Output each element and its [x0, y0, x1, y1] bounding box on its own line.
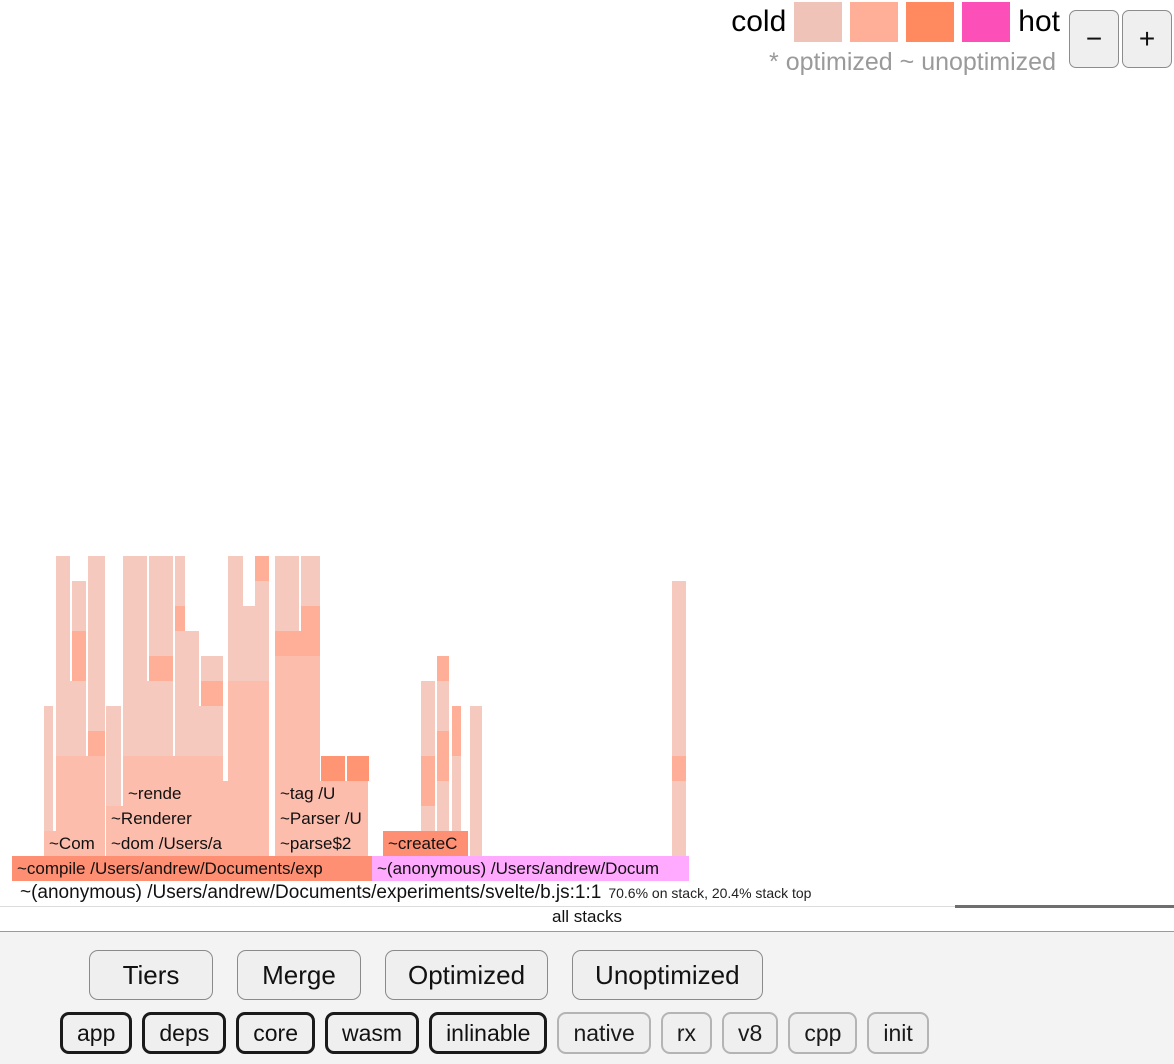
flame-frame[interactable]: [56, 581, 70, 606]
flame-frame[interactable]: [452, 731, 461, 756]
flame-frame[interactable]: [149, 656, 173, 681]
flame-frame[interactable]: [201, 656, 223, 681]
flame-frame[interactable]: [301, 606, 320, 631]
mode-button-row: TiersMergeOptimizedUnoptimized: [89, 950, 763, 1000]
flame-frame[interactable]: [255, 581, 269, 606]
flame-frame[interactable]: [72, 581, 86, 606]
flame-frame[interactable]: [88, 556, 105, 581]
zoom-in-button[interactable]: +: [1122, 10, 1172, 68]
flame-frame[interactable]: [470, 781, 482, 806]
legend-swatch-0: [794, 2, 842, 42]
flame-frame[interactable]: [421, 706, 435, 731]
flame-frame[interactable]: [275, 756, 320, 781]
flame-frame[interactable]: [437, 781, 449, 806]
zoom-controls: − +: [1069, 10, 1172, 68]
flame-frame[interactable]: [228, 656, 269, 681]
flame-frame[interactable]: [175, 606, 185, 631]
flame-frame[interactable]: [275, 631, 320, 656]
tag-button-init[interactable]: init: [867, 1012, 928, 1054]
flame-frame[interactable]: [672, 606, 686, 631]
flame-frame[interactable]: [88, 706, 105, 731]
tag-button-inlinable[interactable]: inlinable: [429, 1012, 547, 1054]
flame-frame[interactable]: [672, 756, 686, 781]
flame-frame[interactable]: [149, 556, 173, 581]
flame-frame[interactable]: [56, 781, 105, 806]
flamegraph-canvas[interactable]: ~compile /Users/andrew/Documents/exp~(an…: [0, 82, 1174, 882]
flame-frame-labeled[interactable]: ~dom /Users/a: [106, 831, 269, 856]
zoom-out-button[interactable]: −: [1069, 10, 1119, 68]
flame-frame[interactable]: [123, 606, 147, 631]
flame-frame[interactable]: [175, 681, 199, 706]
flame-frame[interactable]: [123, 581, 147, 606]
tag-button-v8[interactable]: v8: [722, 1012, 778, 1054]
flame-frame[interactable]: [44, 756, 53, 781]
legend-optimization-note: * optimized ~ unoptimized: [769, 48, 1056, 77]
tag-button-native[interactable]: native: [557, 1012, 650, 1054]
flame-frame[interactable]: [106, 756, 121, 781]
flame-frame[interactable]: [452, 806, 461, 831]
flame-frame[interactable]: [672, 831, 686, 856]
flame-frame[interactable]: [123, 706, 173, 731]
flame-frame[interactable]: [470, 731, 482, 756]
flame-frame[interactable]: [228, 606, 269, 631]
flame-frame[interactable]: [149, 631, 173, 656]
flame-frame[interactable]: [275, 556, 299, 581]
flame-frame[interactable]: [421, 806, 435, 831]
flame-frame[interactable]: [56, 806, 105, 831]
control-panel: TiersMergeOptimizedUnoptimized appdepsco…: [0, 931, 1174, 1064]
flame-frame[interactable]: [56, 731, 86, 756]
flame-frame[interactable]: [123, 631, 147, 656]
flame-frame[interactable]: [301, 556, 320, 581]
flame-frame[interactable]: [72, 656, 86, 681]
flame-frame-labeled[interactable]: ~(anonymous) /Users/andrew/Docum: [372, 856, 689, 881]
flame-frame[interactable]: [672, 781, 686, 806]
flame-frame[interactable]: [672, 656, 686, 681]
mode-button-tiers[interactable]: Tiers: [89, 950, 213, 1000]
flame-frame[interactable]: [56, 756, 105, 781]
flame-frame[interactable]: [123, 756, 223, 781]
flame-frame[interactable]: [88, 681, 105, 706]
flame-frame[interactable]: [275, 656, 320, 681]
flame-frame-labeled[interactable]: ~createC: [383, 831, 468, 856]
flame-frame[interactable]: [301, 581, 320, 606]
flame-frame-labeled[interactable]: ~Parser /U: [275, 806, 368, 831]
flame-frame[interactable]: [56, 556, 70, 581]
all-stacks-label: all stacks: [0, 907, 1174, 927]
flame-frame[interactable]: [56, 631, 70, 656]
flame-frame[interactable]: [275, 606, 299, 631]
flame-frame-labeled[interactable]: ~Renderer: [106, 806, 269, 831]
flame-frame[interactable]: [437, 756, 449, 781]
flame-frame[interactable]: [421, 731, 435, 756]
flame-frame-labeled[interactable]: ~rende: [123, 781, 269, 806]
flame-frame[interactable]: [228, 756, 269, 781]
flame-frame[interactable]: [228, 556, 243, 581]
flame-frame[interactable]: [228, 581, 243, 606]
flame-frame[interactable]: [56, 681, 86, 706]
flame-frame[interactable]: [437, 706, 449, 731]
flame-frame[interactable]: [88, 631, 105, 656]
tag-button-wasm[interactable]: wasm: [325, 1012, 419, 1054]
legend-swatch-3: [962, 2, 1010, 42]
flame-frame[interactable]: [672, 631, 686, 656]
flame-frame[interactable]: [56, 606, 70, 631]
heat-legend: cold hot: [731, 2, 1060, 42]
tag-button-row: appdepscorewasminlinablenativerxv8cppini…: [60, 1012, 929, 1054]
legend-header: cold hot * optimized ~ unoptimized − +: [0, 0, 1174, 82]
flame-frame[interactable]: [437, 656, 449, 681]
tag-button-deps[interactable]: deps: [142, 1012, 226, 1054]
flame-frame[interactable]: [470, 831, 482, 856]
flame-frame[interactable]: [175, 631, 199, 656]
flame-frame[interactable]: [452, 706, 461, 731]
flame-frame[interactable]: [275, 581, 299, 606]
flame-frame[interactable]: [255, 556, 269, 581]
flame-frame[interactable]: [275, 731, 320, 756]
flame-frame[interactable]: [88, 731, 105, 756]
mode-button-unoptimized[interactable]: Unoptimized: [572, 950, 763, 1000]
flame-frame[interactable]: [72, 606, 86, 631]
flame-frame[interactable]: [175, 731, 223, 756]
flame-frame[interactable]: [470, 806, 482, 831]
tag-button-cpp[interactable]: cpp: [788, 1012, 857, 1054]
flame-frame[interactable]: [470, 756, 482, 781]
selected-frame-info: ~(anonymous) /Users/andrew/Documents/exp…: [0, 882, 1174, 906]
flamegraph-profiler-window: cold hot * optimized ~ unoptimized − + ~…: [0, 0, 1174, 1064]
flame-frame[interactable]: [106, 706, 121, 731]
flame-frame-labeled[interactable]: ~Com: [44, 831, 105, 856]
flame-frame[interactable]: [44, 781, 53, 806]
flame-frame[interactable]: [672, 706, 686, 731]
flame-frame[interactable]: [175, 706, 223, 731]
flame-frame[interactable]: [421, 781, 435, 806]
flame-frame[interactable]: [228, 681, 269, 706]
flame-frame[interactable]: [175, 556, 185, 581]
flame-frame[interactable]: [149, 581, 173, 606]
flame-frame[interactable]: [44, 731, 53, 756]
flame-frame[interactable]: [123, 656, 147, 681]
flame-frame[interactable]: [123, 731, 173, 756]
flame-frame-labeled[interactable]: ~tag /U: [275, 781, 368, 806]
flame-frame[interactable]: [106, 731, 121, 756]
flame-frame[interactable]: [44, 806, 53, 831]
flame-frame[interactable]: [437, 806, 449, 831]
flame-frame-labeled[interactable]: ~parse$2: [275, 831, 368, 856]
tag-button-core[interactable]: core: [236, 1012, 315, 1054]
flame-frame[interactable]: [672, 681, 686, 706]
flame-frame[interactable]: [56, 706, 86, 731]
flame-frame[interactable]: [88, 606, 105, 631]
flame-frame-labeled[interactable]: ~compile /Users/andrew/Documents/exp: [12, 856, 372, 881]
flame-frame[interactable]: [470, 706, 482, 731]
flame-frame[interactable]: [275, 706, 320, 731]
tag-button-rx[interactable]: rx: [661, 1012, 712, 1054]
tag-button-app[interactable]: app: [60, 1012, 132, 1054]
flame-frame[interactable]: [44, 706, 53, 731]
flame-frame[interactable]: [123, 556, 147, 581]
flame-frame[interactable]: [672, 731, 686, 756]
flame-frame[interactable]: [275, 681, 320, 706]
flame-frame[interactable]: [228, 706, 269, 731]
flame-frame[interactable]: [437, 731, 449, 756]
flame-frame[interactable]: [321, 756, 345, 781]
flame-frame[interactable]: [175, 581, 185, 606]
legend-hot-label: hot: [1018, 7, 1060, 37]
legend-swatch-1: [850, 2, 898, 42]
flame-frame[interactable]: [437, 681, 449, 706]
flame-frame[interactable]: [72, 631, 86, 656]
flame-frame[interactable]: [672, 806, 686, 831]
flame-frame[interactable]: [88, 581, 105, 606]
flame-frame[interactable]: [56, 656, 70, 681]
flame-frame[interactable]: [149, 606, 173, 631]
legend-cold-label: cold: [731, 7, 786, 37]
flame-frame[interactable]: [88, 656, 105, 681]
flame-frame[interactable]: [452, 781, 461, 806]
flame-frame[interactable]: [123, 681, 173, 706]
flame-frame[interactable]: [347, 756, 369, 781]
flame-frame[interactable]: [452, 756, 461, 781]
flame-frame[interactable]: [106, 781, 121, 806]
legend-swatch-2: [906, 2, 954, 42]
flame-frame[interactable]: [421, 756, 435, 781]
flame-frame[interactable]: [228, 631, 269, 656]
selected-frame-stats: 70.6% on stack, 20.4% stack top: [601, 885, 811, 901]
flame-frame[interactable]: [421, 681, 435, 706]
flame-frame[interactable]: [672, 581, 686, 606]
flame-frame[interactable]: [201, 681, 223, 706]
flame-frame[interactable]: [228, 731, 269, 756]
selected-frame-label: ~(anonymous) /Users/andrew/Documents/exp…: [0, 882, 601, 903]
flame-frame[interactable]: [175, 656, 199, 681]
mode-button-merge[interactable]: Merge: [237, 950, 361, 1000]
mode-button-optimized[interactable]: Optimized: [385, 950, 548, 1000]
